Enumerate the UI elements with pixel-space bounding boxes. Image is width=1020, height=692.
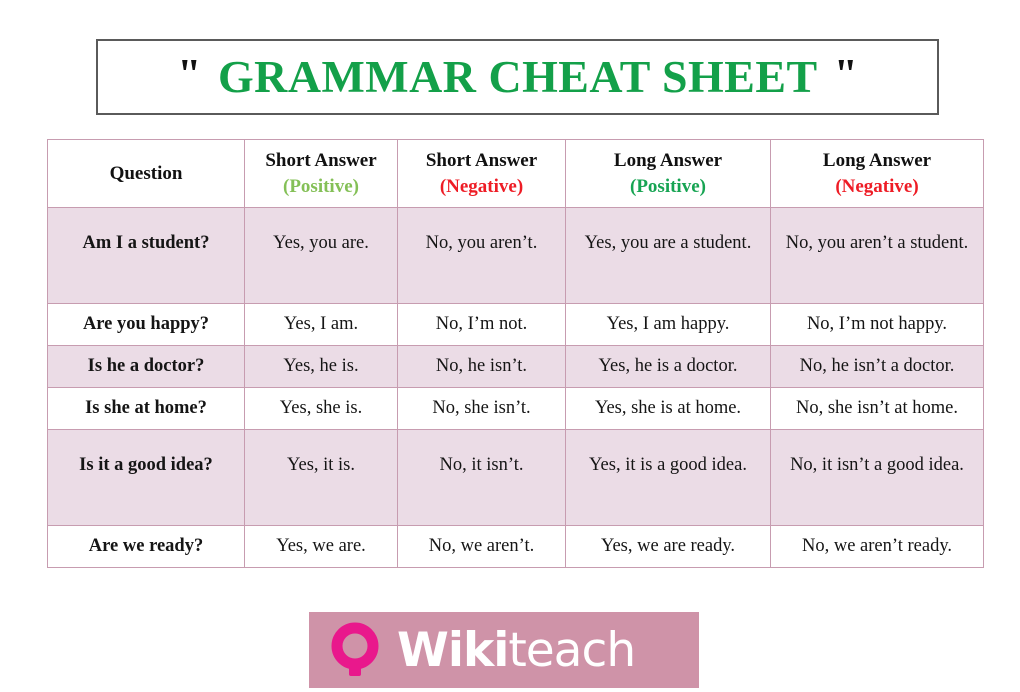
cell-short-positive: Yes, you are. [245,208,398,304]
title-open-quote: " [177,54,201,96]
table-body: Am I a student? Yes, you are. No, you ar… [48,208,984,568]
cell-long-positive: Yes, it is a good idea. [566,430,771,526]
cell-long-negative: No, we aren’t ready. [771,526,984,568]
cell-text: Are you happy? [48,313,244,336]
cell-text: Are we ready? [48,535,244,558]
cell-text: Yes, she is at home. [566,397,770,420]
cell-long-positive: Yes, we are ready. [566,526,771,568]
header-row: Question Short Answer (Positive) Short A… [48,140,984,208]
table-row: Is she at home? Yes, she is. No, she isn… [48,388,984,430]
table-row: Are you happy? Yes, I am. No, I’m not. Y… [48,304,984,346]
grammar-table: Question Short Answer (Positive) Short A… [47,139,984,568]
brand-teach: teach [508,623,635,678]
cell-text: Yes, you are. [245,224,397,264]
column-header-short-answer-positive-main: Short Answer [245,148,397,173]
cell-text: No, we aren’t. [398,535,565,558]
column-header-long-answer-positive-sub: (Positive) [566,174,770,199]
cell-long-positive: Yes, he is a doctor. [566,346,771,388]
title-label: GRAMMAR CHEAT SHEET [201,51,833,103]
column-header-long-answer-negative-main: Long Answer [771,148,983,173]
cell-text: Is he a doctor? [48,355,244,378]
cell-text: Yes, we are ready. [566,535,770,558]
cell-text: Yes, you are a student. [566,224,770,264]
cell-text: Am I a student? [48,224,244,264]
cell-short-positive: Yes, it is. [245,430,398,526]
column-header-question: Question [48,140,245,208]
cell-text: No, you aren’t a student. [771,224,983,264]
cell-long-positive: Yes, she is at home. [566,388,771,430]
cell-long-positive: Yes, I am happy. [566,304,771,346]
column-header-question-main: Question [48,161,244,186]
cell-question: Is he a doctor? [48,346,245,388]
cell-text: No, she isn’t at home. [771,397,983,420]
cell-short-positive: Yes, I am. [245,304,398,346]
column-header-short-answer-positive-sub: (Positive) [245,174,397,199]
cell-question: Is she at home? [48,388,245,430]
column-header-short-answer-negative: Short Answer (Negative) [398,140,566,208]
cell-text: Yes, it is. [245,446,397,486]
brand-wiki: Wiki [397,623,508,678]
cell-short-positive: Yes, he is. [245,346,398,388]
cell-text: No, I’m not. [398,313,565,336]
title-close-quote: " [834,54,858,96]
cell-text: No, I’m not happy. [771,313,983,336]
cell-short-negative: No, he isn’t. [398,346,566,388]
table-row: Are we ready? Yes, we are. No, we aren’t… [48,526,984,568]
cell-question: Are you happy? [48,304,245,346]
cell-question: Is it a good idea? [48,430,245,526]
cell-long-negative: No, I’m not happy. [771,304,984,346]
cell-question: Am I a student? [48,208,245,304]
table-row: Is it a good idea? Yes, it is. No, it is… [48,430,984,526]
cell-short-negative: No, you aren’t. [398,208,566,304]
column-header-long-answer-negative-sub: (Negative) [771,174,983,199]
cell-short-negative: No, she isn’t. [398,388,566,430]
cell-text: No, he isn’t a doctor. [771,355,983,378]
column-header-long-answer-positive-main: Long Answer [566,148,770,173]
column-header-long-answer-positive: Long Answer (Positive) [566,140,771,208]
page-title: " GRAMMAR CHEAT SHEET " [177,51,858,103]
cell-text: Is it a good idea? [48,446,244,486]
column-header-long-answer-negative: Long Answer (Negative) [771,140,984,208]
cell-text: Yes, she is. [245,397,397,420]
cell-text: No, she isn’t. [398,397,565,420]
cell-short-positive: Yes, we are. [245,526,398,568]
cell-text: Yes, I am. [245,313,397,336]
cell-text: No, it isn’t a good idea. [771,446,983,486]
cell-text: No, it isn’t. [398,446,565,486]
cell-short-positive: Yes, she is. [245,388,398,430]
cell-short-negative: No, it isn’t. [398,430,566,526]
cell-short-negative: No, I’m not. [398,304,566,346]
cell-short-negative: No, we aren’t. [398,526,566,568]
cell-text: Yes, I am happy. [566,313,770,336]
wikiteach-logo: Wikiteach [309,612,699,688]
cell-question: Are we ready? [48,526,245,568]
table-row: Am I a student? Yes, you are. No, you ar… [48,208,984,304]
cell-long-negative: No, you aren’t a student. [771,208,984,304]
cell-long-positive: Yes, you are a student. [566,208,771,304]
cell-text: No, you aren’t. [398,224,565,264]
cell-long-negative: No, it isn’t a good idea. [771,430,984,526]
lightbulb-icon [327,621,383,681]
table-header: Question Short Answer (Positive) Short A… [48,140,984,208]
column-header-short-answer-negative-main: Short Answer [398,148,565,173]
title-banner: " GRAMMAR CHEAT SHEET " [96,39,939,115]
cell-long-negative: No, she isn’t at home. [771,388,984,430]
cell-text: Yes, it is a good idea. [566,446,770,486]
column-header-short-answer-positive: Short Answer (Positive) [245,140,398,208]
cell-text: No, we aren’t ready. [771,535,983,558]
cell-text: No, he isn’t. [398,355,565,378]
cell-text: Yes, we are. [245,535,397,558]
table-row: Is he a doctor? Yes, he is. No, he isn’t… [48,346,984,388]
cell-text: Is she at home? [48,397,244,420]
column-header-short-answer-negative-sub: (Negative) [398,174,565,199]
brand-wordmark: Wikiteach [397,627,635,674]
cell-text: Yes, he is. [245,355,397,378]
cell-long-negative: No, he isn’t a doctor. [771,346,984,388]
cell-text: Yes, he is a doctor. [566,355,770,378]
